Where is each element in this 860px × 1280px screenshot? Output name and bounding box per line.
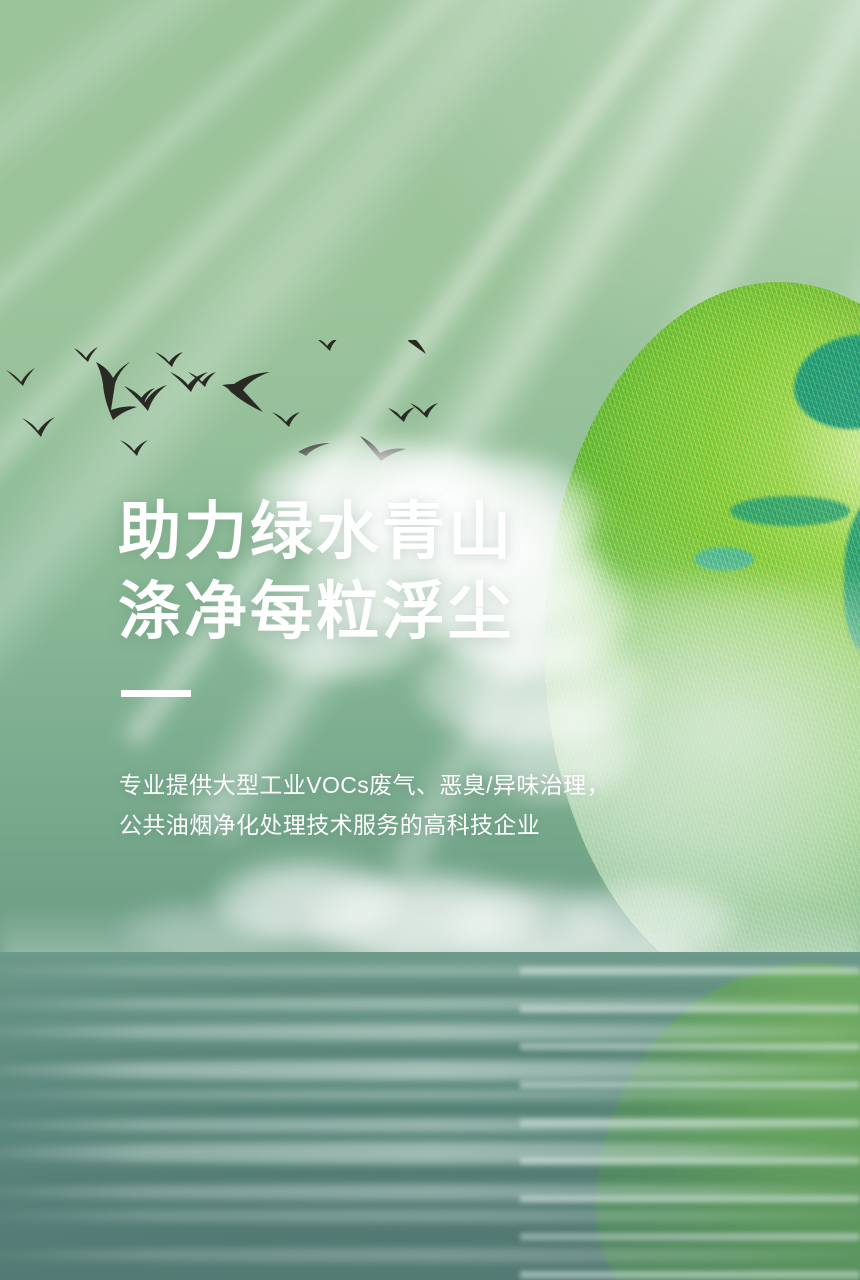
water-ripple bbox=[0, 1142, 860, 1164]
page-title: 助力绿水青山 涤净每粒浮尘 bbox=[118, 492, 514, 652]
water-ripple bbox=[0, 1184, 860, 1200]
water-surface-icon bbox=[0, 952, 860, 1280]
water-ripple bbox=[0, 1060, 860, 1080]
subtitle: 专业提供大型工业VOCs废气、恶臭/异味治理， 公共油烟净化处理技术服务的高科技… bbox=[119, 765, 610, 845]
water-ripple bbox=[0, 1118, 860, 1132]
water-ripple bbox=[0, 1090, 860, 1100]
subtitle-line-2: 公共油烟净化处理技术服务的高科技企业 bbox=[119, 805, 610, 845]
subtitle-line-1: 专业提供大型工业VOCs废气、恶臭/异味治理， bbox=[119, 765, 610, 805]
water-ripple bbox=[0, 1024, 860, 1040]
water-ripple bbox=[0, 998, 860, 1010]
water-ripple bbox=[0, 1210, 860, 1222]
headline-line-1: 助力绿水青山 bbox=[118, 492, 514, 572]
water-ripple bbox=[0, 1228, 860, 1248]
divider-rule bbox=[121, 690, 191, 697]
headline-line-2: 涤净每粒浮尘 bbox=[118, 572, 514, 652]
water-ripple bbox=[0, 982, 860, 996]
water-ripple bbox=[0, 966, 860, 976]
eco-promo-poster: 助力绿水青山 涤净每粒浮尘 专业提供大型工业VOCs废气、恶臭/异味治理， 公共… bbox=[0, 0, 860, 1280]
water-ripple bbox=[0, 1248, 860, 1262]
